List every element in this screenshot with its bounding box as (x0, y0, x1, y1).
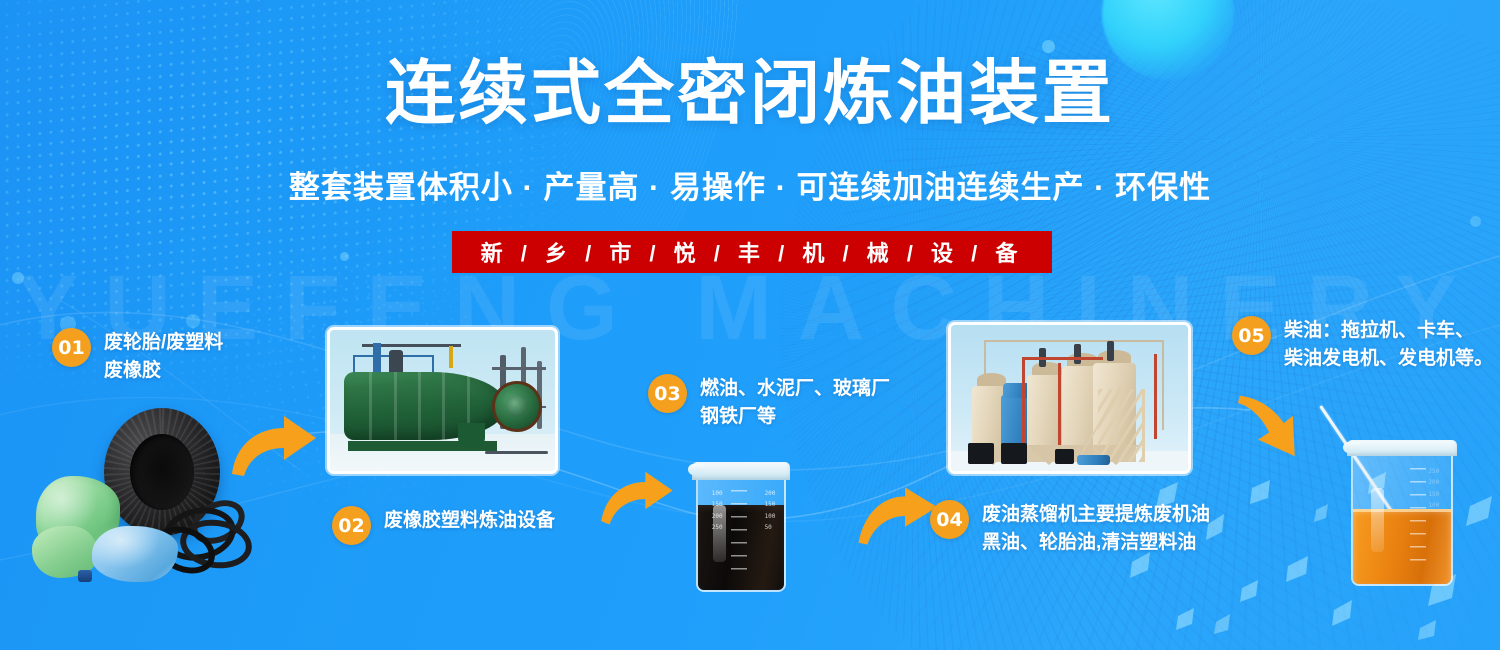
burner-box-icon (968, 443, 994, 463)
oil-distillation-plant-photo (948, 322, 1191, 474)
motor-housing-icon (458, 423, 485, 448)
bokeh-bubble-icon (1042, 40, 1055, 53)
gantry-post-icon (1162, 340, 1164, 431)
beaker-glass-highlight-icon (1371, 488, 1384, 552)
step-04-label: 废油蒸馏机主要提炼废机油 黑油、轮胎油,清洁塑料油 (982, 500, 1210, 556)
bokeh-bubble-icon (186, 314, 200, 328)
beaker-graduation-ticks-icon (731, 490, 747, 574)
page-subtitle: 整套装置体积小 · 产量高 · 易操作 · 可连续加油连续生产 · 环保性 (0, 162, 1500, 207)
arrow-distiller-to-diesel-icon (1238, 392, 1324, 463)
pyrolysis-reactor-photo (327, 327, 558, 474)
tank-dome-icon (1098, 350, 1131, 363)
beaker-glass-highlight-icon (713, 505, 726, 562)
step-03-label: 燃油、水泥厂、玻璃厂 钢铁厂等 (700, 374, 890, 430)
vent-stack-icon (1107, 341, 1114, 361)
beaker-scale-right: 20015010050 (765, 488, 776, 534)
red-pipe-icon (1058, 363, 1061, 445)
step-02-badge: 02 (332, 506, 371, 545)
diesel-fill-icon (1353, 509, 1451, 584)
blue-base-skid-icon (1077, 455, 1110, 465)
tire-inner-hole-icon (130, 434, 194, 510)
step-03-badge: 03 (648, 374, 687, 413)
bottle-cap-icon (78, 570, 92, 582)
step-01: 01 废轮胎/废塑料 废橡胶 (52, 328, 223, 384)
step-05-label: 柴油：拖拉机、卡车、 柴油发电机、发电机等。 (1284, 316, 1493, 372)
support-frame-icon (485, 451, 548, 454)
diesel-beaker: 250200150100 (1347, 440, 1457, 586)
company-name-text: 新 / 乡 / 市 / 悦 / 丰 / 机 / 械 / 设 / 备 (481, 236, 1024, 268)
burner-box-icon (1055, 449, 1074, 464)
blue-plastic-bottle-icon (92, 526, 178, 582)
beaker-scale-left: 250200150100 (1428, 466, 1439, 512)
distillation-tank-icon (1027, 375, 1067, 448)
beaker-rim-icon (692, 462, 790, 480)
step-02-label: 废橡胶塑料炼油设备 (384, 506, 555, 535)
tank-dome-icon (977, 373, 1005, 386)
beaker-glass-icon: 100150200250 20015010050 (696, 472, 786, 592)
bokeh-bubble-icon (340, 252, 349, 261)
step-04: 04 废油蒸馏机主要提炼废机油 黑油、轮胎油,清洁塑料油 (930, 500, 1210, 556)
beaker-graduation-ticks-icon (1410, 468, 1426, 568)
bokeh-bubble-icon (12, 272, 24, 284)
vent-stack-icon (1074, 344, 1081, 364)
reactor-drive-wheel-icon (492, 381, 542, 432)
beaker-rim-icon (1347, 440, 1457, 456)
step-04-badge: 04 (930, 500, 969, 539)
red-pipe-horizontal-icon (1022, 357, 1103, 360)
red-pipe-icon (1154, 354, 1157, 439)
company-name-bar: 新 / 乡 / 市 / 悦 / 丰 / 机 / 械 / 设 / 备 (452, 231, 1052, 273)
beaker-glass-icon: 250200150100 (1351, 450, 1453, 586)
overhead-gantry-icon (984, 340, 1164, 342)
step-02: 02 废橡胶塑料炼油设备 (332, 506, 555, 545)
step-03: 03 燃油、水泥厂、玻璃厂 钢铁厂等 (648, 374, 890, 430)
step-01-label: 废轮胎/废塑料 废橡胶 (104, 328, 223, 384)
arrow-reactor-to-fueloil-icon (596, 470, 676, 533)
valve-icon (449, 346, 453, 369)
promotional-banner: YUEFENG MACHINERY 连续式全密闭炼油装置 整套装置体积小 · 产… (0, 0, 1500, 650)
arrow-fueloil-to-distiller-icon (855, 486, 939, 551)
arrow-tire-to-reactor-icon (226, 414, 320, 483)
burner-box-icon (1001, 443, 1027, 463)
page-title: 连续式全密闭炼油装置 (0, 56, 1500, 132)
step-05-badge: 05 (1232, 316, 1271, 355)
fuel-oil-beaker: 100150200250 20015010050 (692, 462, 790, 592)
red-pipe-icon (1022, 357, 1025, 445)
step-05: 05 柴油：拖拉机、卡车、 柴油发电机、发电机等。 (1232, 316, 1493, 372)
access-stairs-icon (1098, 389, 1145, 462)
bokeh-bubble-icon (1470, 216, 1481, 227)
overhead-pipe-icon (492, 367, 546, 370)
step-01-badge: 01 (52, 328, 91, 367)
